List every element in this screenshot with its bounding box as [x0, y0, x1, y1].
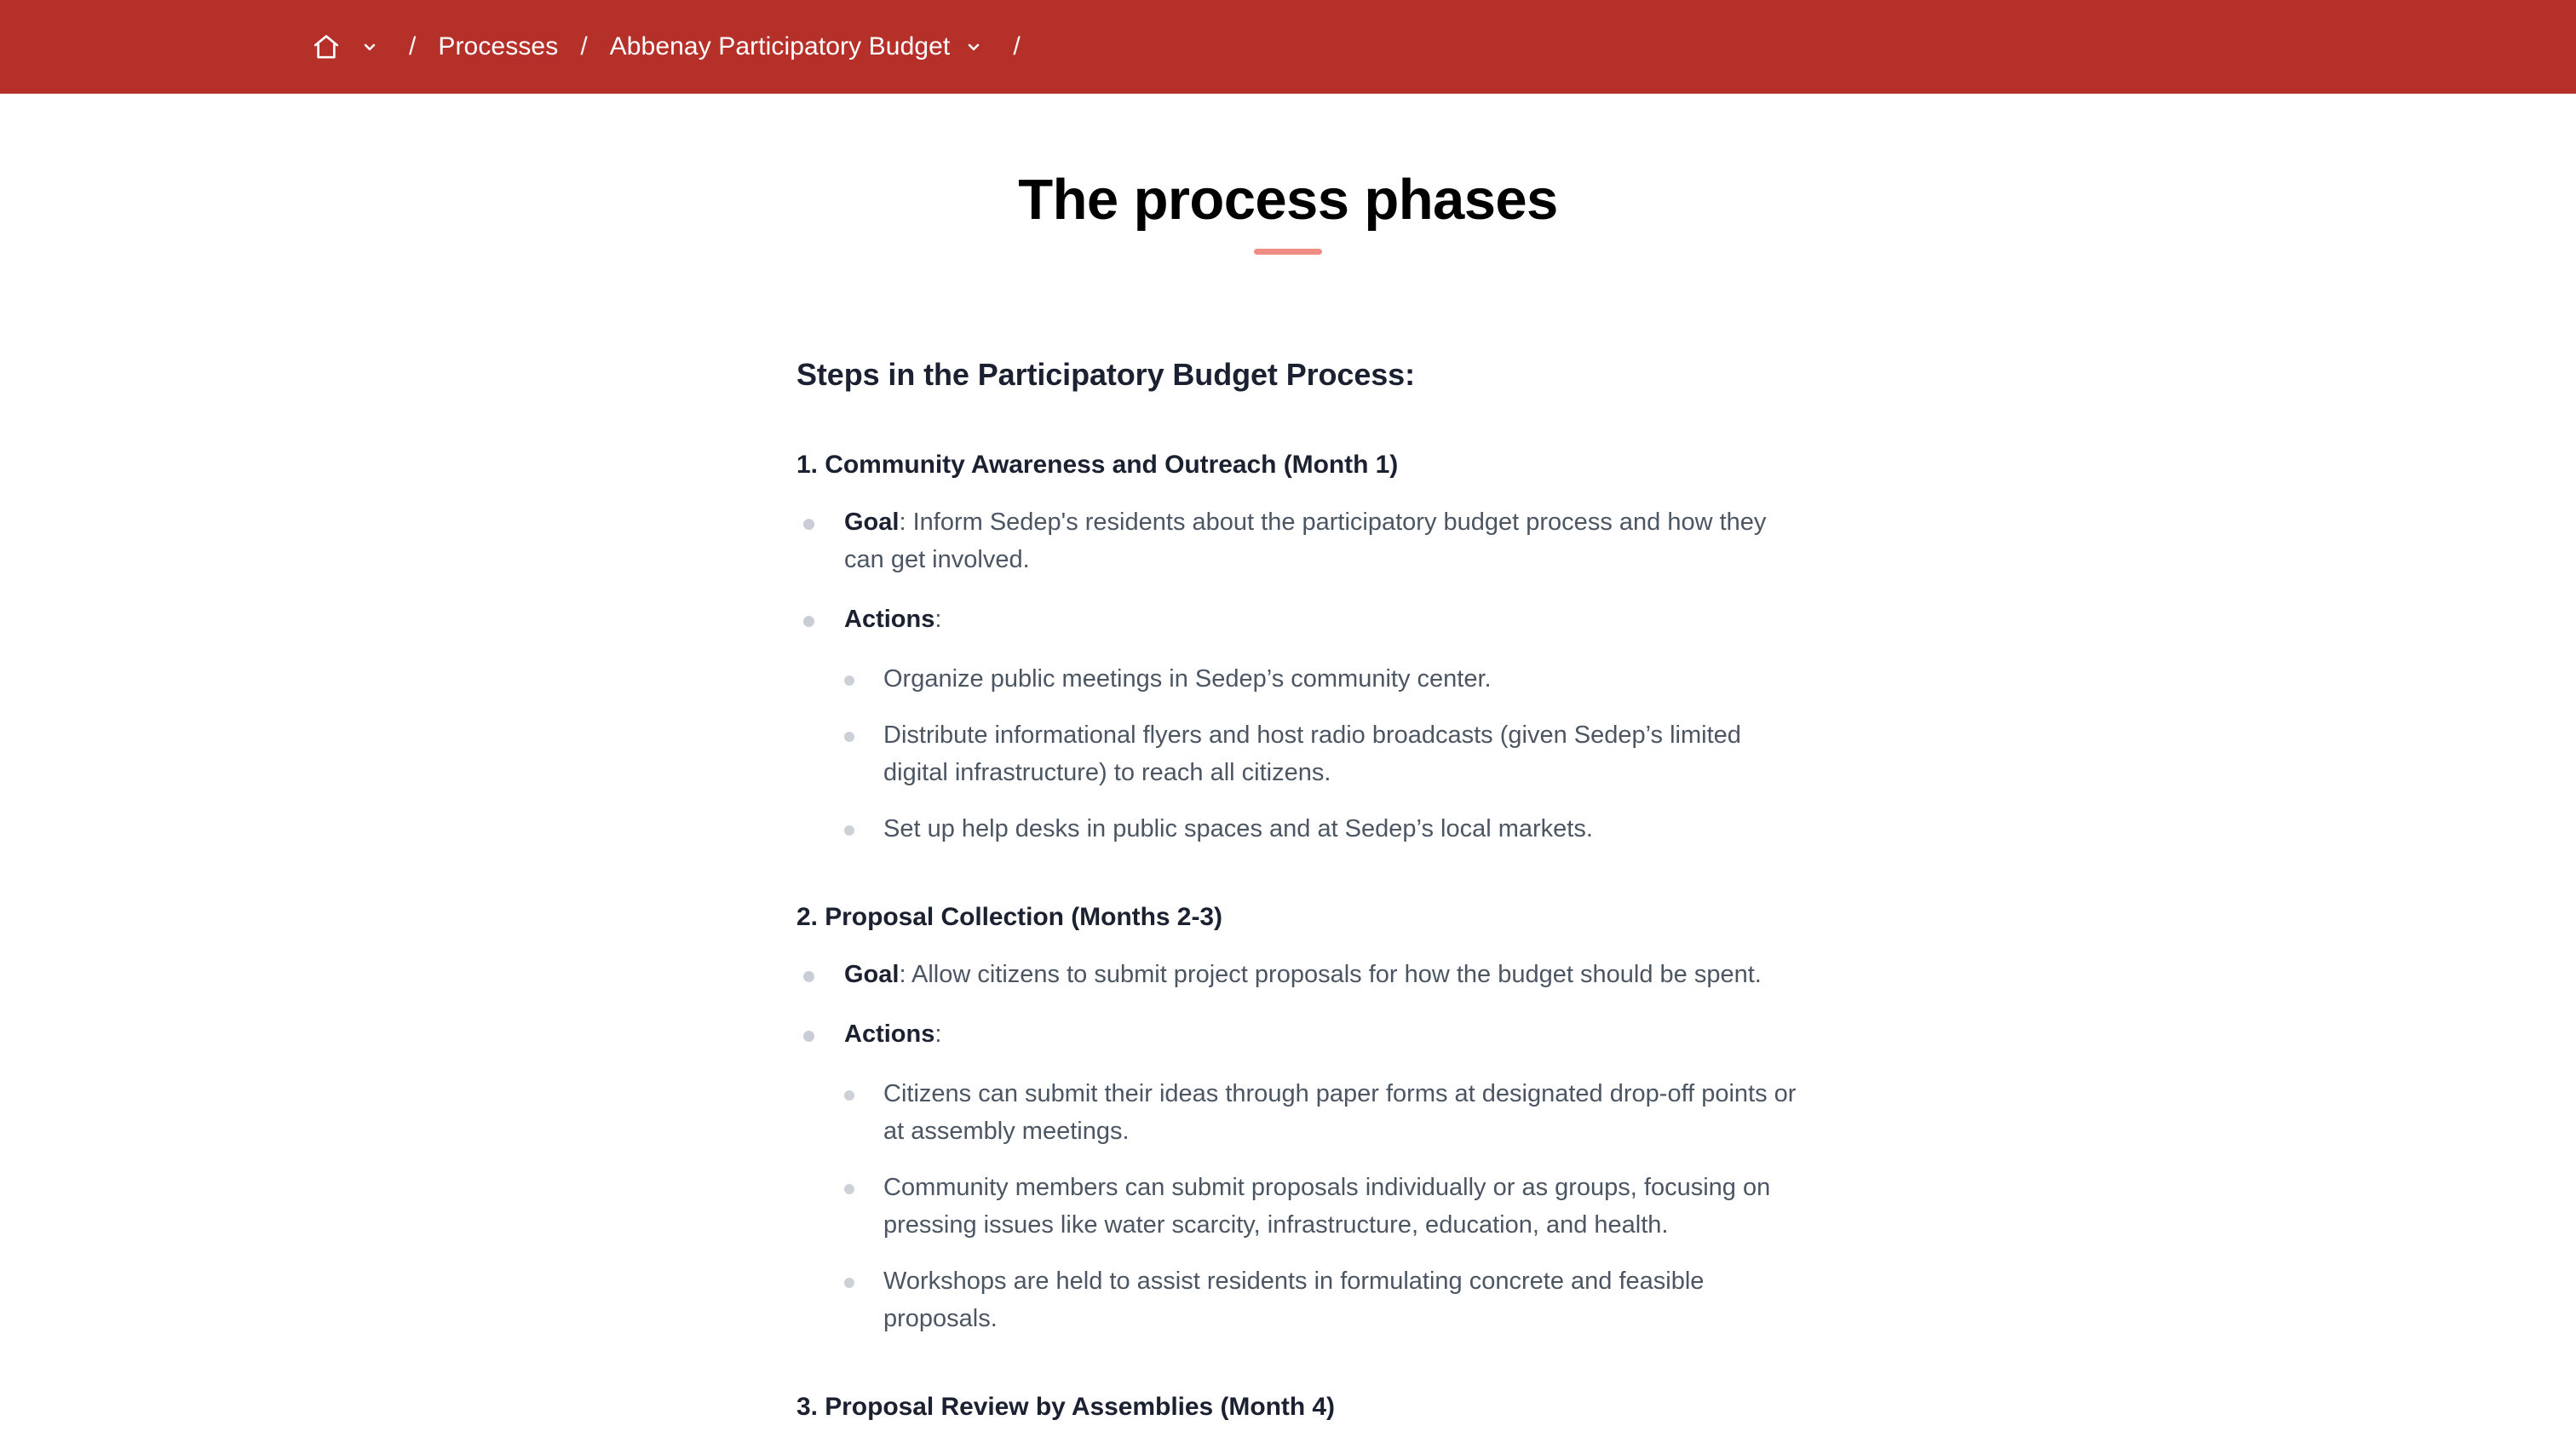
home-icon: [312, 32, 341, 61]
title-accent-rule: [1254, 249, 1322, 255]
step-1-list: Goal: Inform Sedep's residents about the…: [796, 503, 1836, 638]
step-1-actions-list: Organize public meetings in Sedep’s comm…: [836, 660, 1836, 848]
actions-label: Actions: [844, 606, 934, 633]
step-heading-3: 3. Proposal Review by Assemblies (Month …: [796, 1390, 1836, 1425]
actions-suffix: :: [934, 1020, 941, 1048]
page-title-block: The process phases: [0, 170, 2576, 255]
breadcrumb-item-processes[interactable]: Processes: [438, 34, 558, 60]
top-navigation-bar: / Processes / Abbenay Participatory Budg…: [0, 0, 2576, 94]
goal-text: : Allow citizens to submit project propo…: [899, 961, 1761, 988]
step-1-actions-wrapper: Organize public meetings in Sedep’s comm…: [836, 660, 1836, 848]
goal-text: : Inform Sedep's residents about the par…: [844, 509, 1766, 573]
list-item: Goal: Allow citizens to submit project p…: [796, 956, 1785, 993]
list-item: Actions:: [796, 601, 1785, 638]
step-2-actions-list: Citizens can submit their ideas through …: [836, 1075, 1836, 1337]
process-phases-body: Steps in the Participatory Budget Proces…: [796, 355, 1836, 1424]
process-chevron-down-icon[interactable]: [957, 30, 991, 64]
step-heading-1: 1. Community Awareness and Outreach (Mon…: [796, 448, 1836, 483]
step-2-actions-wrapper: Citizens can submit their ideas through …: [836, 1075, 1836, 1337]
step-heading-2: 2. Proposal Collection (Months 2-3): [796, 900, 1836, 935]
breadcrumb-separator: /: [387, 34, 438, 60]
actions-suffix: :: [934, 606, 941, 633]
list-item: Workshops are held to assist residents i…: [836, 1262, 1798, 1337]
list-item: Actions:: [796, 1015, 1785, 1053]
page-title: The process phases: [0, 170, 2576, 230]
home-chevron-down-icon[interactable]: [353, 30, 387, 64]
breadcrumb-item-abbenay-participatory-budget[interactable]: Abbenay Participatory Budget: [610, 34, 951, 60]
goal-label: Goal: [844, 509, 899, 536]
list-item: Set up help desks in public spaces and a…: [836, 810, 1798, 848]
goal-label: Goal: [844, 961, 899, 988]
section-heading: Steps in the Participatory Budget Proces…: [796, 355, 1836, 395]
breadcrumb: / Processes / Abbenay Participatory Budg…: [307, 27, 1043, 66]
actions-label: Actions: [844, 1020, 934, 1048]
list-item: Goal: Inform Sedep's residents about the…: [796, 503, 1785, 578]
breadcrumb-separator: /: [991, 34, 1042, 60]
list-item: Community members can submit proposals i…: [836, 1169, 1798, 1244]
list-item: Citizens can submit their ideas through …: [836, 1075, 1798, 1150]
breadcrumb-separator: /: [558, 34, 609, 60]
page-content: The process phases Steps in the Particip…: [0, 94, 2576, 1425]
list-item: Organize public meetings in Sedep’s comm…: [836, 660, 1798, 698]
home-breadcrumb-link[interactable]: [307, 27, 346, 66]
list-item: Distribute informational flyers and host…: [836, 716, 1798, 791]
step-2-list: Goal: Allow citizens to submit project p…: [796, 956, 1836, 1053]
